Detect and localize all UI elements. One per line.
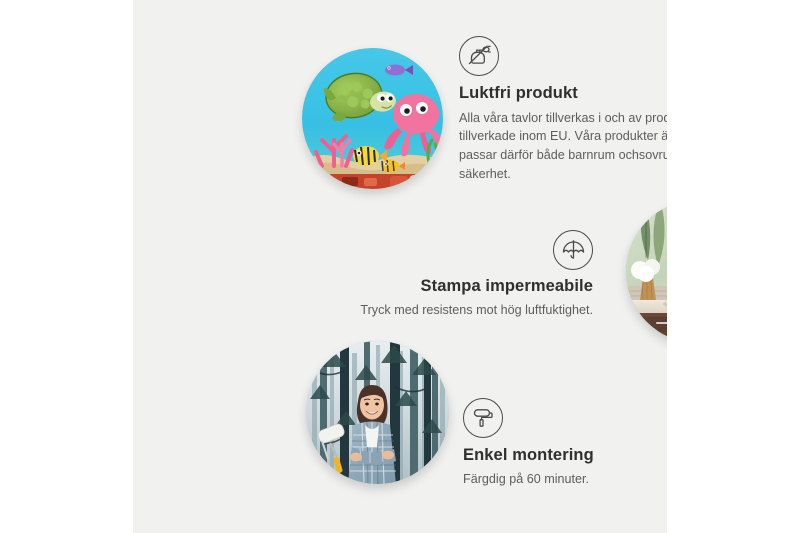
umbrella-icon (553, 230, 593, 270)
feature-mounting-icon-row (463, 398, 667, 438)
feature-odor: Luktfri produkt Alla våra tavlor tillver… (459, 36, 667, 183)
feature-waterproof: Stampa impermeabile Tryck med resistens … (293, 230, 593, 319)
feature-mounting-body: Färgdig på 60 minuter. (463, 470, 667, 489)
feature-mounting-title: Enkel montering (463, 446, 667, 466)
no-perfume-spray-bottle-icon (459, 36, 499, 76)
umbrella-glyph (561, 238, 586, 263)
forest-painter-illustration (306, 341, 449, 484)
bathroom-scene-illustration (626, 200, 667, 343)
feature-odor-title: Luktfri produkt (459, 84, 667, 104)
feature-mounting: Enkel montering Färgdig på 60 minuter. (463, 398, 667, 488)
content-panel: Luktfri produkt Alla våra tavlor tillver… (133, 0, 667, 533)
photo-bathroom (626, 200, 667, 343)
feature-waterproof-icon-row (293, 230, 593, 270)
photo-underwater (302, 48, 443, 189)
feature-waterproof-title: Stampa impermeabile (293, 277, 593, 297)
photo-underwater-inner (302, 48, 443, 189)
photo-forest-inner (306, 341, 449, 484)
feature-odor-body: Alla våra tavlor tillverkas i och av pro… (459, 109, 667, 184)
paint-roller-icon (463, 398, 503, 438)
feature-odor-icon-row (459, 36, 667, 76)
photo-bathroom-inner (626, 200, 667, 343)
photo-forest (306, 341, 449, 484)
no-perfume-spray-bottle-glyph (466, 43, 492, 69)
paint-roller-glyph (471, 406, 495, 430)
promo-graphic: Luktfri produkt Alla våra tavlor tillver… (0, 0, 800, 533)
feature-waterproof-body: Tryck med resistens mot hög luftfuktighe… (293, 301, 593, 320)
underwater-scene-illustration (302, 48, 443, 189)
